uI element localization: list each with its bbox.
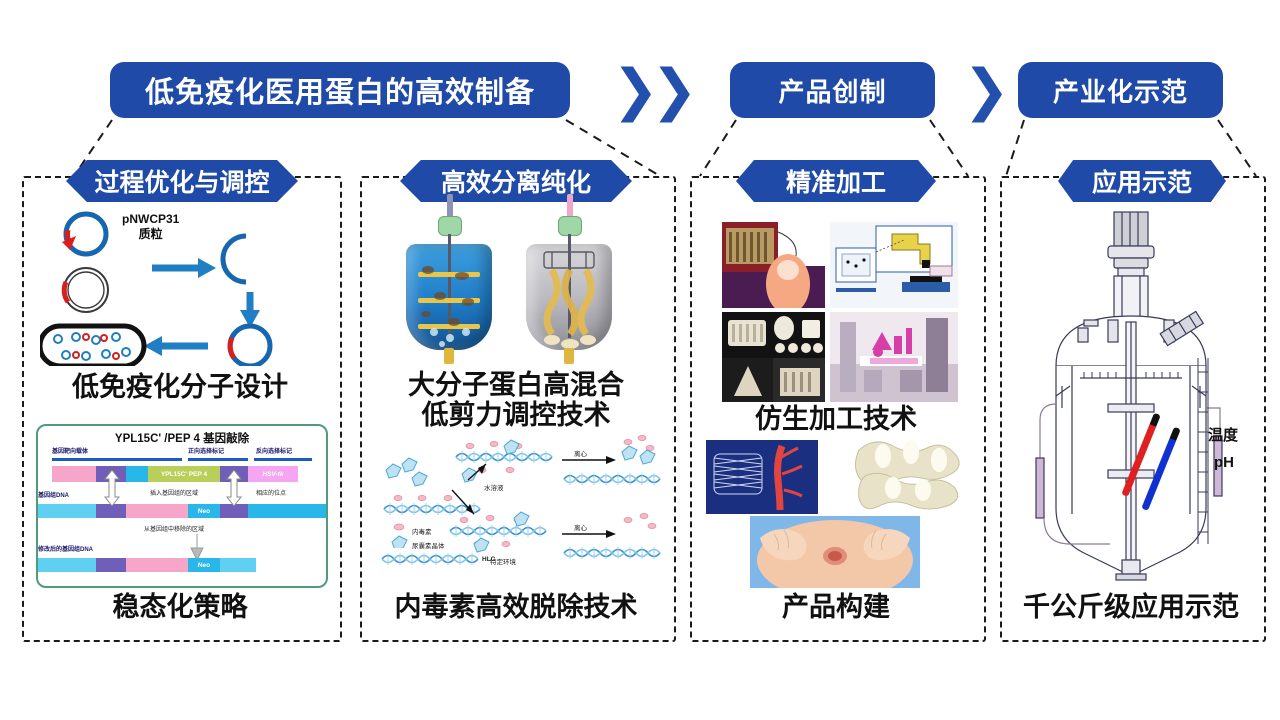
chevron-single-icon: ❯: [963, 62, 1010, 118]
photo-microneedle-array-on-finger: [722, 222, 825, 308]
photo-vascular-stent-graft: [706, 440, 818, 514]
svg-text:离心: 离心: [574, 449, 588, 458]
svg-text:离心: 离心: [574, 523, 588, 532]
annotation-specific-environment: 特定环境: [490, 556, 516, 566]
photo-bone-scaffold: [845, 432, 967, 516]
caption-low-immunogenic-design: 低免疫化分子设计: [22, 372, 338, 402]
fermenter-technical-drawing: 温度 pH: [1022, 208, 1242, 586]
label-modified-dna: 修改后的基因组DNA: [38, 544, 93, 553]
vessel-blue: [406, 230, 492, 350]
knockout-title: YPL15C' /PEP 4 基因敲除: [38, 430, 326, 446]
banner-industrialization: 产业化示范: [1018, 62, 1223, 118]
tag-neo-2: Neo: [188, 558, 220, 572]
gene-knockout-schematic: YPL15C' /PEP 4 基因敲除 基因靶向载体 正向选择标记 反向选择标记…: [36, 424, 328, 588]
banner-product-creation: 产品创制: [730, 62, 935, 118]
caption-line1: 大分子蛋白高混合: [408, 370, 624, 400]
caption-ton-scale-demo: 千公斤级应用示范: [1000, 592, 1262, 622]
sub-banner-process-optimization: 过程优化与调控: [66, 160, 298, 202]
caption-endotoxin-removal: 内毒素高效脱除技术: [360, 592, 672, 622]
label-positive-marker: 正向选择标记: [188, 446, 224, 455]
photo-porous-scaffold-samples: [722, 312, 825, 402]
label-inserted-region: 插入基因组的区域: [150, 488, 198, 497]
label-genomic-dna: 基因组DNA: [38, 490, 69, 499]
chevron-double-icon: ❯❯: [612, 62, 690, 118]
photo-3d-printing-machine: [830, 312, 958, 402]
probe-label-ph: pH: [1214, 454, 1234, 471]
label-targeting-vector: 基因靶向载体: [52, 446, 88, 455]
tag-neo-1: Neo: [188, 504, 220, 518]
photo-process-schematic-diagram: [830, 222, 958, 308]
caption-product-construction: 产品构建: [690, 592, 982, 622]
vessel-gray: [526, 230, 612, 350]
plasmid-name-line1: pNWCP31: [122, 212, 179, 226]
annotation-aqueous-solution: 水溶液: [484, 482, 504, 492]
tag-hsv-tk: HSV-tk: [248, 466, 298, 482]
endotoxin-removal-schematic: 离心: [378, 428, 664, 586]
plasmid-name-label: pNWCP31 质粒: [122, 212, 179, 242]
sub-banner-application-demo: 应用示范: [1058, 160, 1226, 202]
caption-biomimetic-fabrication: 仿生加工技术: [690, 404, 982, 434]
diagram-canvas: 低免疫化医用蛋白的高效制备 ❯❯ 产品创制 ❯ 产业化示范 过程优化与调控 高效…: [0, 0, 1280, 720]
caption-line2: 低剪力调控技术: [422, 400, 611, 430]
tag-gene: YPL15C' PEP 4: [148, 466, 220, 482]
legend-endotoxin: 内毒素: [412, 526, 432, 536]
caption-high-mixing-low-shear: 大分子蛋白高混合 低剪力调控技术: [360, 370, 672, 430]
label-removed-region: 从基因组中移除的区域: [144, 524, 204, 533]
legend-allantoin-crystal: 尿囊素晶体: [412, 540, 445, 550]
banner-main-title: 低免疫化医用蛋白的高效制备: [110, 62, 570, 118]
bioreactor-vessel-illustrations: [392, 212, 642, 362]
sub-banner-precision-fabrication: 精准加工: [736, 160, 936, 202]
plasmid-design-illustration: pNWCP31 质粒: [40, 206, 320, 366]
label-corresponding-site: 相应的位点: [256, 488, 286, 497]
photo-wound-healing-skin: [750, 516, 920, 588]
plasmid-name-line2: 质粒: [139, 227, 163, 241]
caption-stabilization-strategy: 稳态化策略: [22, 592, 338, 622]
probe-label-temperature: 温度: [1208, 424, 1238, 445]
sub-banner-separation-purification: 高效分离纯化: [400, 160, 632, 202]
label-negative-marker: 反向选择标记: [256, 446, 292, 455]
